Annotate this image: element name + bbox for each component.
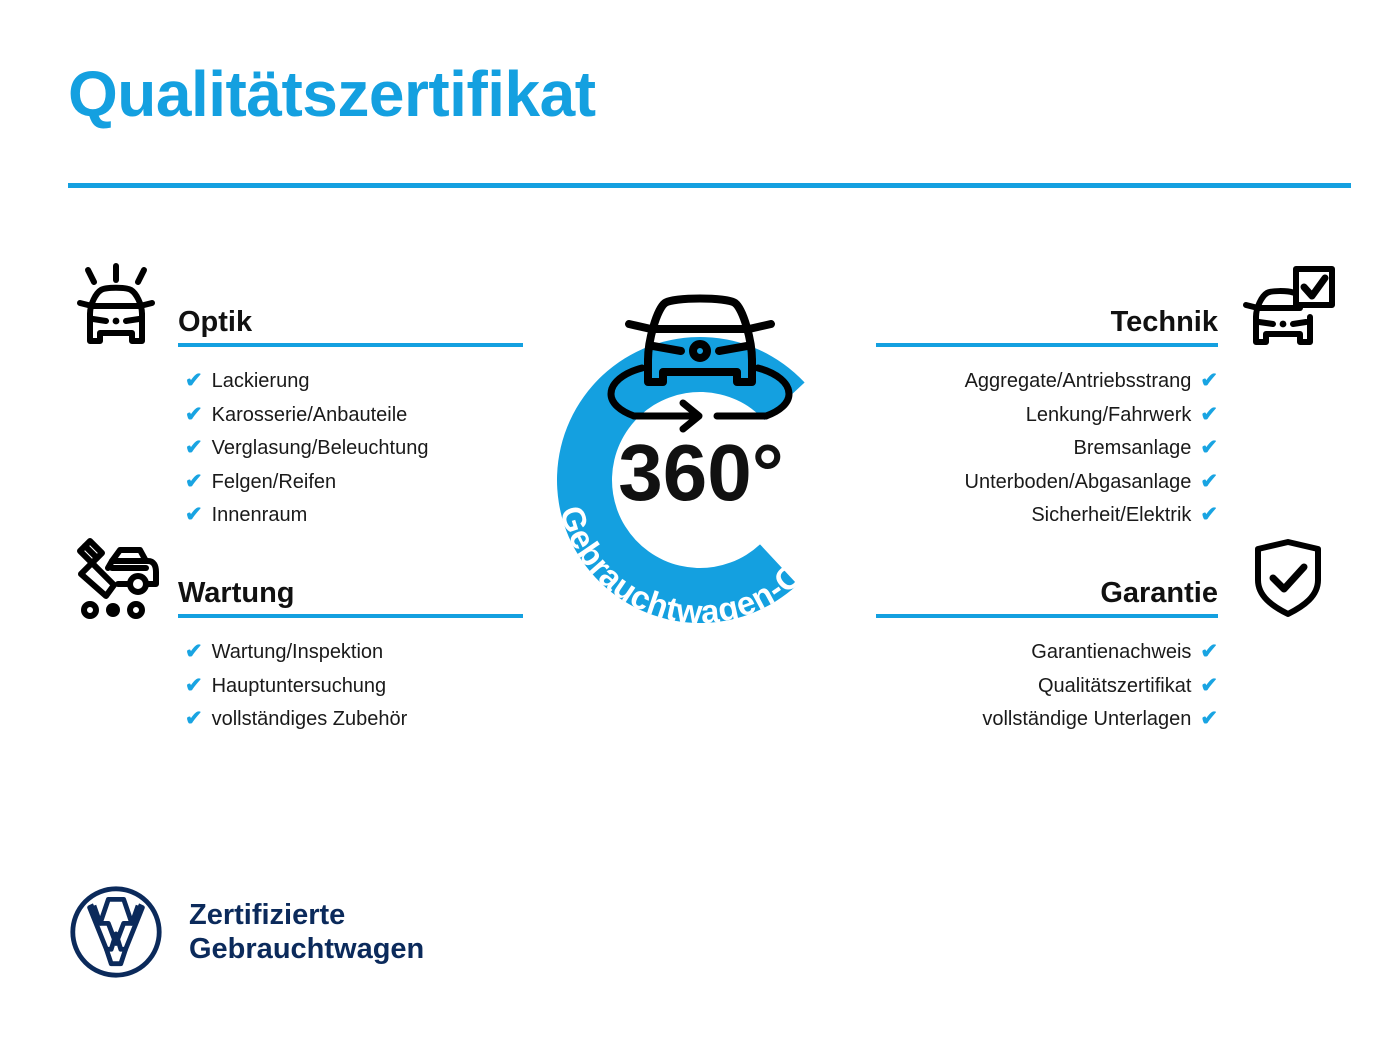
section-title-technik: Technik [1111, 308, 1218, 337]
logo-wordmark-line1: Zertifizierte [189, 898, 424, 932]
vw-roundel-logo [68, 884, 164, 980]
section-header-wartung: Wartung [68, 556, 523, 618]
list-item: ✔vollständiges Zubehör [185, 703, 523, 737]
list-item: ✔Lackierung [185, 365, 523, 399]
check-icon: ✔ [185, 471, 203, 492]
section-optik: Optik ✔Lackierung ✔Karosserie/Anbauteile… [68, 285, 523, 533]
pencil-car-service-icon [68, 534, 164, 620]
list-item: Qualitätszertifikat✔ [876, 670, 1218, 704]
section-title-garantie: Garantie [1100, 579, 1218, 608]
check-icon: ✔ [1200, 437, 1218, 458]
page-title: Qualitätszertifikat [68, 62, 596, 126]
check-icon: ✔ [185, 504, 203, 525]
car-front-shine-icon [68, 263, 164, 349]
list-item: Bremsanlage✔ [876, 432, 1218, 466]
section-divider-garantie [876, 614, 1218, 618]
list-item-label: Garantienachweis [1031, 636, 1191, 670]
check-icon: ✔ [1200, 471, 1218, 492]
section-divider-optik [178, 343, 523, 347]
list-item-label: Karosserie/Anbauteile [212, 399, 408, 433]
check-icon: ✔ [185, 708, 203, 729]
shield-check-icon [1240, 534, 1336, 620]
checklist-wartung: ✔Wartung/Inspektion ✔Hauptuntersuchung ✔… [68, 636, 523, 737]
car-front-checkbox-icon [1240, 263, 1336, 349]
list-item: Lenkung/Fahrwerk✔ [876, 399, 1218, 433]
list-item-label: Qualitätszertifikat [1038, 670, 1191, 704]
check-icon: ✔ [185, 370, 203, 391]
list-item: ✔Innenraum [185, 499, 523, 533]
header-divider [68, 183, 1351, 188]
logo-wordmark: Zertifizierte Gebrauchtwagen [189, 898, 424, 966]
vw-certified-logo: Zertifizierte Gebrauchtwagen [68, 884, 424, 980]
badge-center-text: 360° [618, 428, 783, 517]
list-item-label: Wartung/Inspektion [212, 636, 384, 670]
certificate-page: Qualitätszertifikat Optik [0, 0, 1400, 1050]
check-icon: ✔ [1200, 404, 1218, 425]
list-item: ✔Wartung/Inspektion [185, 636, 523, 670]
section-title-optik: Optik [178, 308, 252, 337]
section-title-wartung: Wartung [178, 579, 295, 608]
list-item-label: Verglasung/Beleuchtung [212, 432, 429, 466]
checklist-garantie: Garantienachweis✔ Qualitätszertifikat✔ v… [876, 636, 1336, 737]
list-item: Aggregate/Antriebsstrang✔ [876, 365, 1218, 399]
360-check-badge: Gebrauchtwagen-Check 360° [505, 272, 895, 672]
list-item: Sicherheit/Elektrik✔ [876, 499, 1218, 533]
list-item-label: Innenraum [212, 499, 308, 533]
list-item-label: Bremsanlage [1074, 432, 1192, 466]
logo-wordmark-line2: Gebrauchtwagen [189, 932, 424, 966]
check-icon: ✔ [185, 641, 203, 662]
checklist-optik: ✔Lackierung ✔Karosserie/Anbauteile ✔Verg… [68, 365, 523, 533]
list-item-label: Lenkung/Fahrwerk [1026, 399, 1192, 433]
list-item: vollständige Unterlagen✔ [876, 703, 1218, 737]
section-header-optik: Optik [68, 285, 523, 347]
section-divider-wartung [178, 614, 523, 618]
list-item-label: Felgen/Reifen [212, 466, 337, 500]
list-item-label: Sicherheit/Elektrik [1031, 499, 1191, 533]
list-item-label: vollständiges Zubehör [212, 703, 408, 737]
checklist-technik: Aggregate/Antriebsstrang✔ Lenkung/Fahrwe… [876, 365, 1336, 533]
check-icon: ✔ [1200, 708, 1218, 729]
list-item-label: Hauptuntersuchung [212, 670, 387, 704]
list-item: Garantienachweis✔ [876, 636, 1218, 670]
section-header-garantie: Garantie [876, 556, 1336, 618]
check-icon: ✔ [185, 404, 203, 425]
section-garantie: Garantie Garantienachweis✔ Qualitätszert… [876, 556, 1336, 737]
section-divider-technik [876, 343, 1218, 347]
list-item-label: Lackierung [212, 365, 310, 399]
section-header-technik: Technik [876, 285, 1336, 347]
check-icon: ✔ [1200, 675, 1218, 696]
section-wartung: Wartung ✔Wartung/Inspektion ✔Hauptunters… [68, 556, 523, 737]
list-item: ✔Hauptuntersuchung [185, 670, 523, 704]
check-icon: ✔ [185, 675, 203, 696]
check-icon: ✔ [1200, 504, 1218, 525]
list-item-label: Unterboden/Abgasanlage [965, 466, 1192, 500]
section-technik: Technik Aggregate/Antriebsstrang✔ Lenkun… [876, 285, 1336, 533]
check-icon: ✔ [1200, 370, 1218, 391]
list-item: ✔Verglasung/Beleuchtung [185, 432, 523, 466]
list-item: ✔Felgen/Reifen [185, 466, 523, 500]
check-icon: ✔ [1200, 641, 1218, 662]
check-icon: ✔ [185, 437, 203, 458]
list-item: ✔Karosserie/Anbauteile [185, 399, 523, 433]
list-item-label: vollständige Unterlagen [982, 703, 1191, 737]
list-item: Unterboden/Abgasanlage✔ [876, 466, 1218, 500]
list-item-label: Aggregate/Antriebsstrang [965, 365, 1192, 399]
